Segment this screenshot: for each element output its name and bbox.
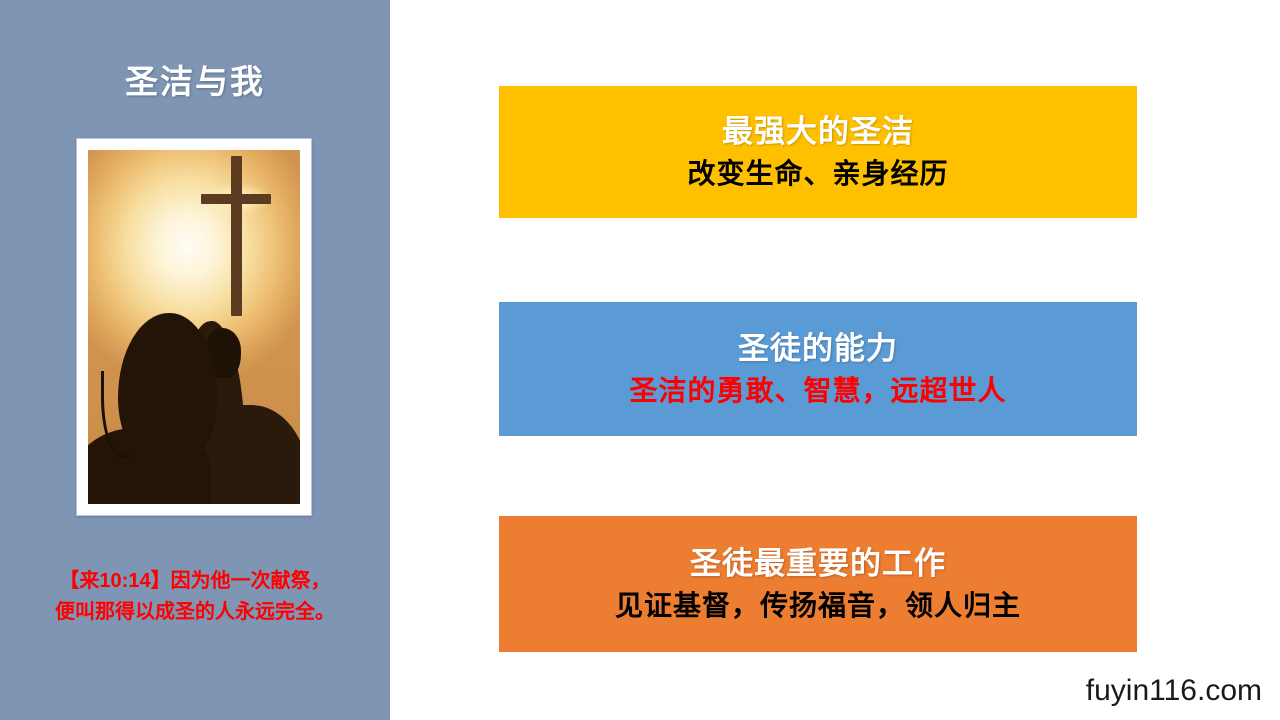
content-box-saints-most-important-work[interactable]: 圣徒最重要的工作 见证基督，传扬福音，领人归主 bbox=[499, 516, 1137, 652]
content-box-subtitle: 见证基督，传扬福音，领人归主 bbox=[615, 588, 1021, 623]
cross-icon bbox=[188, 156, 284, 316]
person-silhouette bbox=[88, 313, 300, 504]
content-box-heading: 最强大的圣洁 bbox=[722, 113, 914, 152]
content-box-heading: 圣徒的能力 bbox=[738, 330, 898, 369]
content-box-heading: 圣徒最重要的工作 bbox=[690, 545, 946, 584]
content-box-subtitle: 改变生命、亲身经历 bbox=[687, 156, 948, 191]
content-box-saints-power[interactable]: 圣徒的能力 圣洁的勇敢、智慧，远超世人 bbox=[499, 302, 1137, 436]
scripture-line-1: 【来10:14】因为他一次献祭， bbox=[14, 566, 376, 597]
page-title: 圣洁与我 bbox=[0, 62, 390, 102]
presentation-slide: 圣洁与我 【来10:14】因为 bbox=[0, 0, 1280, 720]
content-box-subtitle: 圣洁的勇敢、智慧，远超世人 bbox=[629, 373, 1006, 408]
site-watermark: fuyin116.com bbox=[1086, 674, 1262, 708]
cross-vertical-beam bbox=[231, 156, 242, 316]
cross-silhouette-sunset-photo bbox=[88, 150, 300, 504]
scripture-caption: 【来10:14】因为他一次献祭， 便叫那得以成圣的人永远完全。 bbox=[14, 566, 376, 628]
photo-frame bbox=[76, 138, 312, 516]
scripture-line-2: 便叫那得以成圣的人永远完全。 bbox=[14, 597, 376, 628]
cross-horizontal-beam bbox=[201, 194, 271, 204]
sidebar-panel: 圣洁与我 【来10:14】因为 bbox=[0, 0, 390, 720]
content-box-strongest-holiness[interactable]: 最强大的圣洁 改变生命、亲身经历 bbox=[499, 86, 1137, 218]
